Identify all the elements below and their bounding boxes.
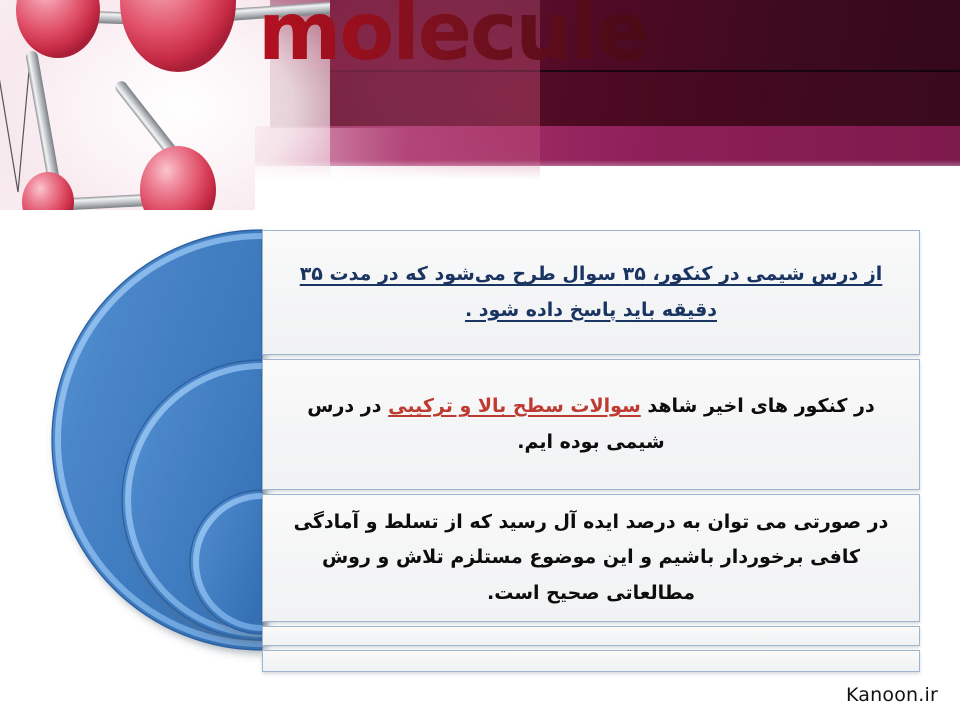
content-box-2[interactable]: در کنکور های اخیر شاهد سوالات سطح بالا و… [262, 359, 920, 490]
content-box-1-text: از درس شیمی در کنکور، ۳۵ سوال طرح می‌شود… [281, 257, 901, 327]
page-title: molecule [258, 0, 778, 72]
footer-watermark: Kanoon.ir [846, 684, 938, 706]
header-banner: molecule [0, 0, 960, 210]
atom-sphere [140, 146, 216, 210]
content-box-2-segment-lead: در کنکور های اخیر شاهد [641, 395, 875, 417]
content-box-5[interactable] [262, 650, 920, 672]
nested-arcs-diagram [0, 222, 300, 672]
content-box-1[interactable]: از درس شیمی در کنکور، ۳۵ سوال طرح می‌شود… [262, 230, 920, 355]
content-box-list: از درس شیمی در کنکور، ۳۵ سوال طرح می‌شود… [262, 230, 920, 676]
atom-sphere [16, 0, 100, 58]
content-box-2-text: در کنکور های اخیر شاهد سوالات سطح بالا و… [281, 389, 901, 459]
content-box-1-underlined-text: از درس شیمی در کنکور، ۳۵ سوال طرح می‌شود… [300, 263, 883, 320]
content-box-4[interactable] [262, 626, 920, 646]
atom-sphere [120, 0, 236, 72]
atom-sphere [22, 172, 74, 210]
content-box-2-highlight-text: سوالات سطح بالا و ترکیبی [388, 395, 641, 417]
content-box-3-text: در صورتی می توان به درصد ایده آل رسید که… [281, 505, 901, 610]
slide-canvas: molecule [0, 0, 960, 720]
banner-bottom-fade [255, 160, 960, 210]
content-box-3[interactable]: در صورتی می توان به درصد ایده آل رسید که… [262, 494, 920, 622]
